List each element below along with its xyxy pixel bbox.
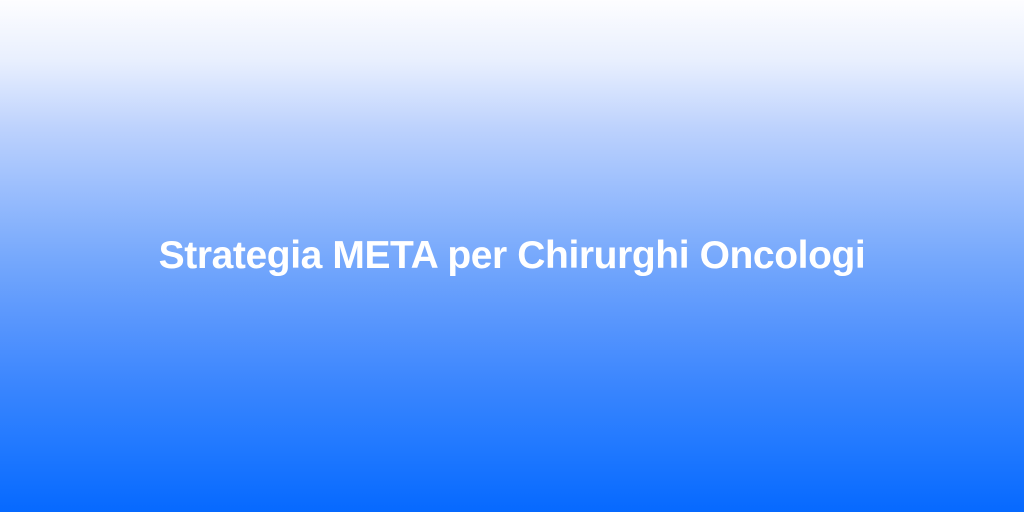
title-slide: Strategia META per Chirurghi Oncologi — [0, 0, 1024, 512]
headline-block: Strategia META per Chirurghi Oncologi — [0, 232, 1024, 281]
slide-title: Strategia META per Chirurghi Oncologi — [48, 232, 976, 281]
